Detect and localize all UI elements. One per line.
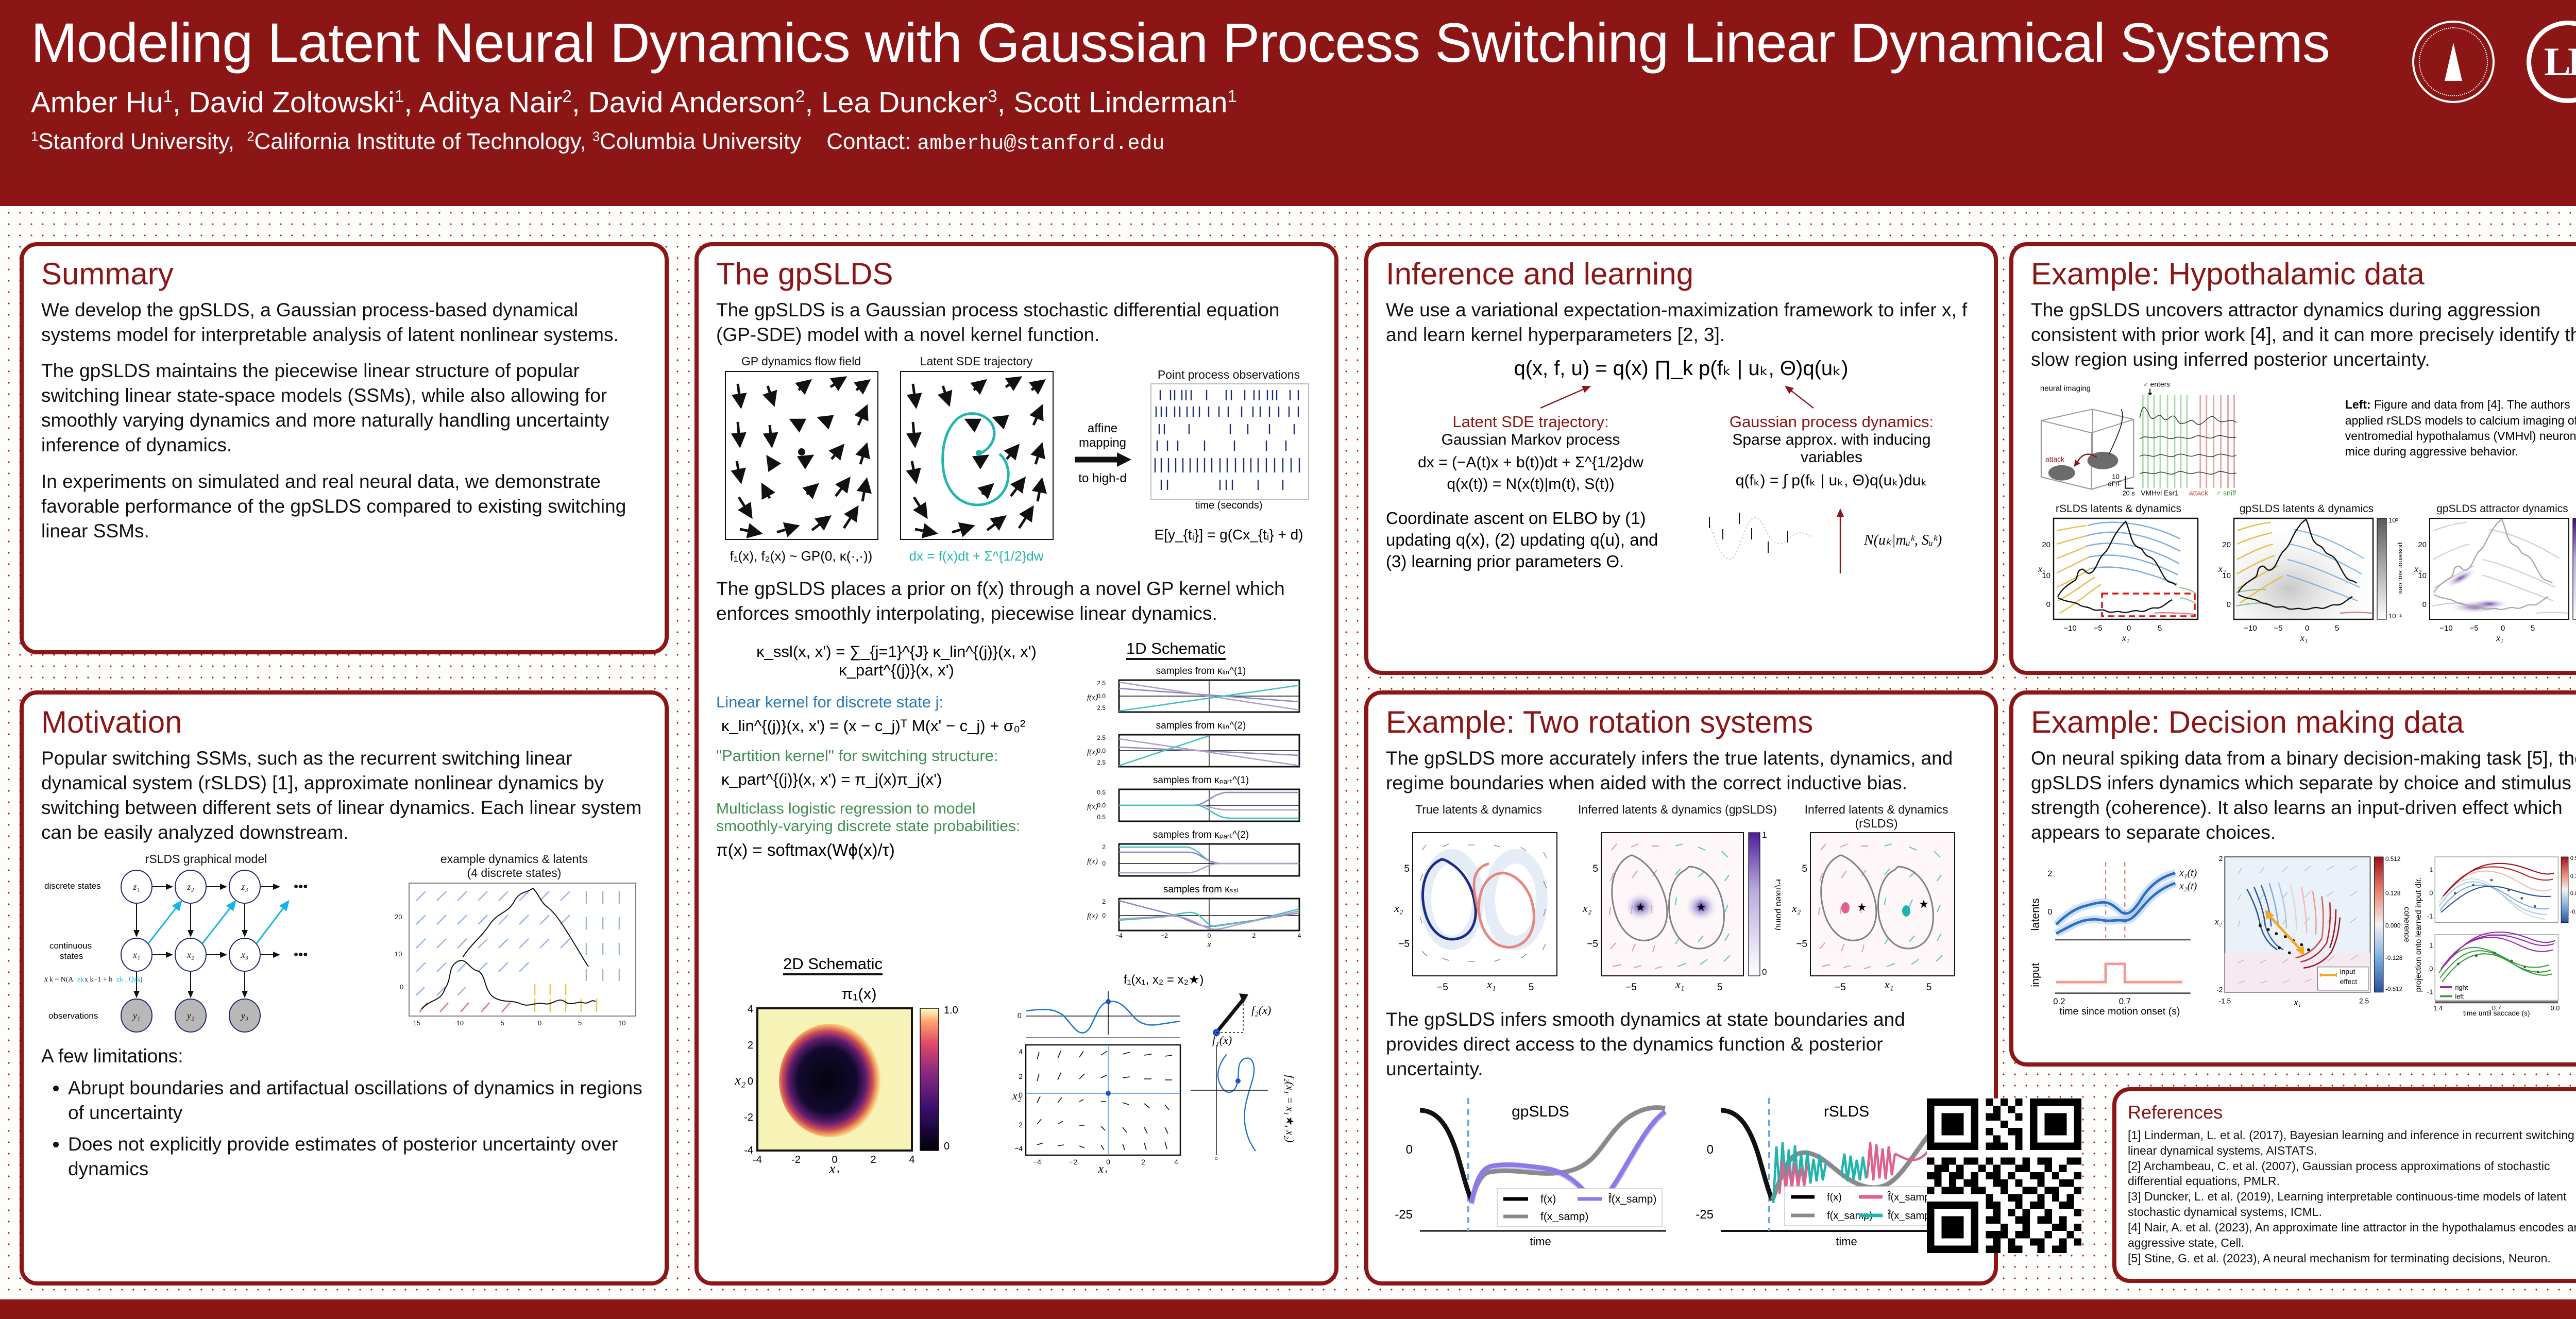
svg-text:5: 5 [1404, 864, 1410, 874]
pi1-title: π₁(x) [716, 985, 1002, 1003]
svg-text:0: 0 [2305, 624, 2309, 633]
author-3: David Anderson [588, 86, 795, 119]
affine-label-l2: mapping [1066, 436, 1139, 450]
scale-dff: dF/F [2108, 480, 2122, 488]
slice-top-label: f₁(x₁, x₂ = x₂★) [1010, 972, 1317, 987]
flow-coherence-figure: input effect 0.5120.1280.000 -0.128-0.51… [2208, 852, 2410, 1017]
gp-branch: Gaussian process dynamics: Sparse approx… [1687, 413, 1976, 493]
limitations-list: Abrupt boundaries and artifactual oscill… [41, 1076, 647, 1180]
svg-text:0.512: 0.512 [2385, 856, 2400, 863]
svg-text:★: ★ [1635, 901, 1646, 914]
rslds-xlabel: time [1836, 1235, 1857, 1247]
svg-text:−5: −5 [1437, 982, 1448, 993]
sch1d-cap-3: samples from κₚₐᵣₜ^(2) [1085, 829, 1317, 841]
svg-text:−5: −5 [1625, 982, 1637, 993]
neural-imaging-label: neural imaging [2040, 384, 2091, 393]
references-list: References [1] Linderman, L. et al. (201… [2128, 1101, 2576, 1266]
svg-text:2: 2 [1102, 898, 1106, 905]
svg-text:○: ○ [1214, 1155, 1218, 1162]
affine-label-l1: affine [1066, 421, 1139, 436]
lg-0-2: f(x_samp) [1540, 1211, 1588, 1223]
page-title: Modeling Latent Neural Dynamics with Gau… [31, 13, 2576, 72]
dynamics-caption-l2: (4 discrete states) [380, 866, 648, 880]
svg-text:−5: −5 [2469, 624, 2478, 633]
linear-kernel-equation: κ_lin^{(j)}(x, x') = (x − c_j)ᵀ M(x' − c… [721, 717, 1077, 735]
qr-code-icon[interactable] [1927, 1098, 2081, 1253]
svg-text:states: states [60, 951, 83, 961]
affiliation-list: 1Stanford University, 2California Instit… [31, 129, 2576, 156]
svg-text:continuous: continuous [49, 941, 92, 951]
dynamics-caption-l1: example dynamics & latents [380, 852, 648, 866]
svg-text:x₂: x₂ [1012, 1089, 1022, 1102]
svg-text:-1: -1 [2427, 988, 2433, 996]
partition-kernel-label: "Partition kernel" for switching structu… [716, 747, 1077, 765]
reference-0: [1] Linderman, L. et al. (2017), Bayesia… [2128, 1128, 2576, 1159]
svg-text:0: 0 [1208, 932, 1211, 939]
svg-text:−10: −10 [2439, 624, 2452, 633]
gpslds-attractor-svg: 10 P(attractor dynamics) 20100 −10−505 x… [2407, 515, 2576, 644]
svg-text:★: ★ [1696, 901, 1706, 914]
svg-text:2.5: 2.5 [1097, 704, 1106, 712]
gpslds-xlabel: time [1530, 1235, 1551, 1247]
hypothalamic-top-row: neural imaging ♂ enters attack [2031, 379, 2576, 498]
kernel-main-equation: κ_ssl(x, x') = ∑_{j=1}^{J} κ_lin^{(j)}(x… [716, 642, 1077, 680]
svg-text:f(x): f(x) [1087, 857, 1098, 866]
lg-0-1: f̂(x_samp) [1608, 1193, 1656, 1205]
gp-prior-equation: f₁(x), f₂(x) ~ GP(0, κ(·,·)) [716, 548, 886, 564]
svg-text:★: ★ [1919, 898, 1929, 910]
gpslds-inferred-figure: Inferred latents & dynamics (gpSLDS) [1574, 803, 1781, 1002]
svg-text:−4: −4 [1033, 1158, 1041, 1166]
svg-text:2.5: 2.5 [1097, 759, 1106, 766]
panel-inference: Inference and learning We use a variatio… [1364, 242, 1998, 675]
schematic-1d-title: 1D Schematic [1126, 639, 1226, 660]
svg-text:0: 0 [1762, 967, 1767, 977]
projection-ylabel: projection onto learned input dir. [2415, 877, 2423, 992]
svg-text:f(x): f(x) [1087, 912, 1098, 920]
multiclass-equation: π(x) = softmax(Wϕ(x)/τ) [716, 840, 1077, 860]
latents-input-figure: latents 20 x₁(t) x₂(t) input 0.20.7 time [2031, 852, 2202, 1017]
two-rotation-figures: True latents & dynamics [1386, 803, 1976, 1002]
svg-text:1.4: 1.4 [2433, 1004, 2443, 1012]
svg-text:0: 0 [2501, 624, 2505, 633]
sch1d-cap-4: samples from κₛₛₗ [1085, 884, 1317, 895]
latent-traj-caption: Latent SDE trajectory [891, 354, 1061, 368]
slice-svg: 0 f₂(x) f₁(x) [1010, 987, 1309, 1173]
svg-text:x₁: x₁ [2294, 997, 2301, 1008]
gpslds-attractor-figure: gpSLDS attractor dynamics [2407, 503, 2576, 647]
svg-text:0: 0 [1707, 1143, 1714, 1157]
trace-label: VMHvl Esr1 [2141, 489, 2179, 497]
affil-sup-2: 3 [592, 130, 600, 144]
panel-summary: Summary We develop the gpSLDS, a Gaussia… [20, 242, 669, 654]
pi1-heatmap-svg: 1.00 -4-2024 420-2-4 x₂ x₁ [716, 1003, 984, 1173]
svg-text:-2: -2 [2216, 986, 2223, 994]
svg-text:discrete states: discrete states [44, 881, 101, 891]
svg-text:1.0: 1.0 [944, 1005, 958, 1016]
svg-text:•••: ••• [294, 878, 308, 894]
point-process-figure: Point process observations [1144, 354, 1314, 543]
sch1d-plot-1: f(x) 2.50.02.5 [1085, 732, 1307, 772]
svg-text:1: 1 [2429, 866, 2433, 874]
svg-text:0.0: 0.0 [1097, 692, 1106, 700]
svg-text:20: 20 [395, 913, 402, 921]
svg-text:0: 0 [1102, 912, 1106, 919]
legend-effect: effect [2340, 978, 2357, 986]
stanford-seal-icon [2412, 21, 2495, 103]
rslds-inferred-svg: ★ ★ −55 5−5 x₁ x₂ [1784, 830, 1969, 1000]
svg-text:zk: zk [77, 976, 84, 984]
hypo-fig-title-1: gpSLDS latents & dynamics [2211, 503, 2402, 515]
svg-text:-0.128: -0.128 [2570, 909, 2576, 915]
svg-text:y₁: y₁ [132, 1010, 140, 1021]
lg-0-0: f(x) [1540, 1193, 1556, 1205]
sch1d-cap-1: samples from κₗᵢₙ^(2) [1085, 720, 1317, 732]
svg-text:0.7: 0.7 [2119, 997, 2131, 1007]
gpslds-plot-title: gpSLDS [1512, 1103, 1569, 1120]
svg-text:0: 0 [1018, 1011, 1022, 1020]
posterior-std-colorbar-label: posterior std. dev. [2397, 543, 2402, 595]
sch1d-plot-4: f(x) 20 −4−2024 x [1085, 895, 1307, 949]
slice-right-label: f₂(x₁ = x₁★, x₂) [1284, 1075, 1296, 1143]
svg-text:0.5: 0.5 [1097, 789, 1106, 796]
pi1-heatmap-figure: 2D Schematic π₁(x) [716, 955, 1002, 1176]
svg-text:−4: −4 [1014, 1144, 1023, 1153]
latent-branch-eq1: dx = (−A(t)x + b(t))dt + Σ^{1/2}dw [1386, 454, 1675, 471]
kernel-equations: κ_ssl(x, x') = ∑_{j=1}^{J} κ_lin^{(j)}(x… [716, 637, 1077, 860]
svg-text:★: ★ [1857, 901, 1867, 914]
svg-text:x₁: x₁ [1098, 1162, 1108, 1173]
hypothalamic-side-caption: Left: Figure and data from [4]. The auth… [2345, 379, 2576, 459]
author-sup-3: 2 [795, 87, 805, 106]
svg-text:−2: −2 [1069, 1158, 1077, 1166]
flow-field-figure: GP dynamics flow field [716, 354, 886, 564]
linear-kernel-label: Linear kernel for discrete state j: [716, 693, 1077, 712]
svg-text:−5: −5 [1835, 982, 1846, 993]
panel-decision: Example: Decision making data On neural … [2009, 690, 2576, 1067]
svg-text:2: 2 [748, 1040, 753, 1051]
vector-decomposition: f₂(x) f₁(x) [1212, 993, 1271, 1046]
svg-text:0: 0 [2047, 908, 2052, 917]
svg-text:2: 2 [2219, 855, 2223, 863]
rslds-inferred-figure: Inferred latents & dynamics (rSLDS) [1784, 803, 1969, 1002]
rslds-latents-svg: 20100 −10−505 x₂ x₁ [2031, 515, 2206, 644]
gp-branch-sub-l2: variables [1687, 449, 1976, 466]
svg-text:-4: -4 [744, 1145, 753, 1156]
linderman-lab-logo-icon: LL [2527, 21, 2576, 103]
inference-title: Inference and learning [1386, 259, 1976, 290]
svg-text:-4: -4 [753, 1154, 762, 1165]
svg-text:0: 0 [2429, 889, 2433, 897]
author-2: Aditya Nair [419, 86, 563, 119]
svg-text:z₂: z₂ [187, 882, 194, 892]
author-0: Amber Hu [31, 86, 163, 119]
summary-paragraph-0: We develop the gpSLDS, a Gaussian proces… [41, 298, 647, 347]
closing-text: Coordinate ascent on ELBO by (1) updatin… [1386, 508, 1695, 573]
svg-text:0.128: 0.128 [2385, 890, 2401, 897]
svg-text:0: 0 [400, 983, 403, 991]
svg-text:-1: -1 [2427, 912, 2433, 920]
svg-text:x₂: x₂ [2038, 564, 2045, 574]
author-sup-2: 2 [562, 87, 571, 106]
gp-branch-label: Gaussian process dynamics: [1687, 413, 1976, 431]
logo-group: LL [2412, 21, 2576, 103]
projection-figure: projection onto learned input dir. 10-1 [2415, 852, 2576, 1017]
svg-text:0: 0 [2046, 600, 2050, 609]
svg-text:f(x): f(x) [1087, 803, 1098, 811]
gpslds-timeseries-figure: gpSLDS 0 -25 time f(x) f̂( [1386, 1093, 1674, 1250]
svg-text:-0.512: -0.512 [2385, 986, 2402, 993]
svg-text:20: 20 [2222, 540, 2231, 549]
svg-text:x₂: x₂ [2414, 564, 2421, 574]
legend-sniff: ♂ sniff [2216, 489, 2236, 497]
svg-text:0: 0 [538, 1019, 541, 1027]
x2-trace-label: x₂(t) [2179, 881, 2197, 892]
inducing-points-figure [1702, 501, 1857, 579]
svg-text:y₃: y₃ [240, 1010, 248, 1021]
author-sup-5: 1 [1227, 87, 1236, 106]
svg-text:−2: −2 [1161, 932, 1168, 939]
hypothalamic-figures: rSLDS latents & dynamics [2031, 503, 2576, 647]
latent-branch-label: Latent SDE trajectory: [1386, 413, 1675, 431]
latent-trajectory-figure: Latent SDE trajectory [891, 354, 1061, 564]
schematic-1d: 1D Schematic samples from κₗᵢₙ^(1) f(x) … [1085, 637, 1317, 952]
svg-text:x₂: x₂ [2218, 564, 2226, 574]
scale-20s: 20 s [2122, 489, 2134, 497]
latent-branch: Latent SDE trajectory: Gaussian Markov p… [1386, 413, 1675, 493]
svg-text:−5: −5 [1796, 939, 1807, 950]
sch1d-plot-0: f(x) 2.50.02.5 [1085, 677, 1307, 717]
svg-text:−4: −4 [1115, 932, 1123, 939]
latent-traj-svg [891, 368, 1061, 544]
legend-right: right [2455, 984, 2468, 991]
closing-l3: (3) learning prior parameters Θ. [1386, 551, 1695, 572]
schematic-2d-title: 2D Schematic [783, 955, 883, 975]
flow-field-caption: GP dynamics flow field [716, 354, 886, 368]
svg-text:10: 10 [395, 950, 402, 958]
panel-two-rotation: Example: Two rotation systems The gpSLDS… [1364, 690, 1998, 1286]
sch1d-plot-3: f(x) 20 [1085, 841, 1307, 881]
poster-header: Modeling Latent Neural Dynamics with Gau… [0, 0, 2576, 206]
inference-main-equation: q(x, f, u) = q(x) ∏_k p(fₖ | uₖ, Θ)q(uₖ) [1386, 357, 1976, 380]
svg-text:x₂: x₂ [2214, 917, 2222, 927]
inference-branches: Latent SDE trajectory: Gaussian Markov p… [1386, 413, 1976, 493]
raster-svg: time (seconds) [1144, 382, 1314, 511]
author-sup-0: 1 [163, 87, 173, 106]
gpslds-latents-svg: 10²10⁻² posterior std. dev. 20100 −10−50… [2211, 515, 2402, 644]
svg-text:observations: observations [48, 1011, 98, 1021]
fig-title-1: Inferred latents & dynamics (gpSLDS) [1574, 803, 1781, 830]
svg-text:2: 2 [1141, 1158, 1145, 1166]
svg-text:2.5: 2.5 [2359, 997, 2369, 1005]
svg-text:f(x): f(x) [1087, 748, 1098, 756]
rslds-plot-title: rSLDS [1824, 1103, 1869, 1120]
hypo-fig-title-2: gpSLDS attractor dynamics [2407, 503, 2576, 515]
gpslds-title: The gpSLDS [716, 259, 1317, 290]
svg-text:-2: -2 [791, 1154, 801, 1165]
kernel-section: κ_ssl(x, x') = ∑_{j=1}^{J} κ_lin^{(j)}(x… [716, 637, 1317, 952]
svg-text:0: 0 [2227, 600, 2231, 609]
svg-text:time (seconds): time (seconds) [1195, 500, 1262, 511]
point-process-caption: Point process observations [1144, 368, 1314, 382]
mouse-imaging-figure: neural imaging ♂ enters attack [2031, 379, 2339, 498]
summary-paragraph-1: The gpSLDS maintains the piecewise linea… [41, 359, 647, 458]
svg-text:f₁(x): f₁(x) [1212, 1034, 1232, 1046]
svg-text:0.5: 0.5 [1097, 814, 1106, 821]
motivation-title: Motivation [41, 707, 647, 738]
panel-motivation: Motivation Popular switching SSMs, such … [20, 690, 669, 1286]
affil-sup-1: 2 [247, 130, 254, 144]
svg-text:0.128: 0.128 [2570, 874, 2576, 880]
reference-2: [3] Duncker, L. et al. (2019), Learning … [2128, 1189, 2576, 1220]
reference-4: [5] Stine, G. et al. (2023), A neural me… [2128, 1251, 2576, 1266]
svg-text:2: 2 [2047, 870, 2052, 878]
svg-text:4: 4 [1174, 1158, 1178, 1166]
tree-icon [2445, 43, 2462, 81]
svg-text:5: 5 [1592, 864, 1598, 874]
hypo-fig-title-0: rSLDS latents & dynamics [2031, 503, 2206, 515]
author-4: Lea Duncker [821, 86, 988, 119]
inference-paragraph: We use a variational expectation-maximiz… [1386, 298, 1976, 347]
references-title: References [2128, 1101, 2576, 1125]
latent-branch-sub: Gaussian Markov process [1386, 431, 1675, 449]
example-dynamics-figure: example dynamics & latents (4 discrete s… [380, 852, 648, 1037]
affil-2: Columbia University [600, 129, 801, 154]
svg-text:0.000: 0.000 [2385, 923, 2401, 929]
multiclass-label-l1: Multiclass logistic regression to model [716, 800, 1077, 818]
affine-label-l3: to high-d [1066, 471, 1139, 486]
svg-text:20: 20 [2418, 540, 2427, 549]
reference-1: [2] Archambeau, C. et al. (2007), Gaussi… [2128, 1159, 2576, 1190]
sch1d-cap-2: samples from κₚₐᵣₜ^(1) [1085, 774, 1317, 786]
svg-text:10⁻²: 10⁻² [2388, 612, 2402, 620]
svg-text:-25: -25 [1395, 1208, 1413, 1222]
svg-text:x₂: x₂ [187, 950, 194, 960]
sde-equation: dx = f(x)dt + Σ^{1/2}dw [891, 548, 1061, 564]
author-1: David Zoltowski [189, 86, 395, 119]
author-sup-4: 3 [988, 87, 997, 106]
svg-text:−5: −5 [2274, 624, 2282, 633]
svg-text:4: 4 [748, 1004, 753, 1015]
contact-label: Contact: [826, 129, 911, 154]
svg-text:2: 2 [1019, 1072, 1023, 1080]
svg-text:1: 1 [1762, 830, 1767, 840]
svg-text:z₁: z₁ [132, 882, 140, 892]
male-enters-label: ♂ enters [2143, 380, 2170, 388]
saccade-xlabel: time until saccade (s) [2463, 1009, 2530, 1017]
svg-text:2: 2 [1102, 843, 1106, 851]
svg-text:−2: −2 [1014, 1121, 1023, 1129]
gpslds-legend: f(x) f̂(x_samp) f(x_samp) [1497, 1189, 1662, 1227]
inference-closing: Coordinate ascent on ELBO by (1) updatin… [1386, 501, 1976, 579]
svg-text:−5: −5 [1587, 939, 1598, 950]
multiclass-label-l2: smoothly-varying discrete state probabil… [716, 818, 1077, 835]
svg-text:x₁: x₁ [132, 950, 140, 960]
contact-email[interactable]: amberhu@stanford.edu [917, 132, 1164, 156]
svg-text:f(x): f(x) [1087, 694, 1098, 702]
svg-text:y₂: y₂ [186, 1010, 194, 1021]
rslds-graphical-model-figure: rSLDS graphical model discrete states co… [41, 852, 371, 1039]
legend-left: left [2455, 993, 2464, 1001]
svg-text:-1.5: -1.5 [2219, 997, 2231, 1005]
side-caption-text: Figure and data from [4]. The authors ap… [2345, 398, 2576, 458]
decision-paragraph: On neural spiking data from a binary dec… [2031, 746, 2576, 845]
svg-text:0.0: 0.0 [1097, 747, 1106, 754]
svg-text:x₂: x₂ [1791, 902, 1801, 915]
svg-text:-0.128: -0.128 [2385, 955, 2403, 961]
svg-text:x₁: x₁ [2300, 633, 2308, 643]
fixed-point-colorbar-label: P(fixed point) [1774, 879, 1781, 931]
gpslds-model-schematic: GP dynamics flow field [716, 354, 1317, 564]
svg-text:k ~ N(A: k ~ N(A [49, 976, 74, 984]
svg-text:5: 5 [2531, 624, 2535, 633]
svg-text:x₁: x₁ [2496, 633, 2503, 643]
svg-text:x₂: x₂ [1582, 902, 1592, 915]
scale-10: 10 [2112, 473, 2119, 481]
limitation-0: Abrupt boundaries and artifactual oscill… [68, 1076, 647, 1125]
annotation-arrows [1386, 383, 1984, 410]
svg-text:0.512: 0.512 [2570, 855, 2576, 861]
affil-0: Stanford University [38, 129, 228, 154]
svg-text:0: 0 [2422, 600, 2427, 609]
svg-text:f₂(x): f₂(x) [1251, 1004, 1271, 1017]
author-sup-1: 1 [395, 87, 404, 106]
flow-field-svg [716, 368, 886, 544]
svg-text:−5: −5 [497, 1019, 504, 1027]
svg-text:2.5: 2.5 [1097, 680, 1106, 687]
svg-text:5: 5 [2335, 624, 2339, 633]
summary-title: Summary [41, 259, 647, 290]
svg-text:4: 4 [1019, 1047, 1023, 1056]
svg-text:0: 0 [1102, 860, 1106, 867]
gpslds-timeseries-svg: gpSLDS 0 -25 time f(x) f̂( [1386, 1093, 1674, 1247]
svg-text:2: 2 [1252, 932, 1256, 939]
svg-text:x₁: x₁ [1675, 978, 1684, 991]
svg-text:): ) [140, 976, 143, 984]
svg-text:−5: −5 [1398, 939, 1410, 950]
closing-l1: Coordinate ascent on ELBO by (1) [1386, 508, 1695, 529]
svg-text:x₁: x₁ [1486, 978, 1496, 991]
svg-text:x₃: x₃ [241, 950, 248, 960]
observation-equation: E[y_{tᵢ}] = g(Cx_{tᵢ} + d) [1144, 527, 1314, 543]
graphical-model-caption: rSLDS graphical model [41, 852, 371, 866]
gpslds-paragraph-1: The gpSLDS is a Gaussian process stochas… [716, 298, 1317, 347]
svg-text:0.000: 0.000 [2570, 891, 2576, 897]
closing-l2: updating q(x), (2) updating q(u), and [1386, 529, 1695, 551]
affil-1: California Institute of Technology [255, 129, 580, 154]
svg-text:0.0: 0.0 [1097, 802, 1106, 809]
decision-title: Example: Decision making data [2031, 707, 2576, 738]
graphical-model-svg: discrete states continuous states observ… [41, 866, 371, 1036]
input-ylabel: input [2031, 963, 2042, 987]
svg-text:x₂: x₂ [1394, 902, 1403, 915]
legend-input: input [2340, 968, 2355, 976]
decision-figures: latents 20 x₁(t) x₂(t) input 0.20.7 time [2031, 852, 2576, 1017]
gp-branch-eq: q(fₖ) = ∫ p(fₖ | uₖ, Θ)q(uₖ)duₖ [1687, 471, 1976, 489]
svg-text:1: 1 [2429, 942, 2433, 950]
true-latents-svg: −55 5−5 x₁ x₂ [1386, 830, 1571, 1000]
author-5: Scott Linderman [1013, 86, 1227, 119]
svg-text:0.2: 0.2 [2053, 997, 2065, 1007]
gp-branch-sub-l1: Sparse approx. with inducing [1687, 431, 1976, 449]
svg-text:5: 5 [578, 1019, 582, 1027]
attack-arrow-label: attack [2045, 455, 2064, 463]
author-list: Amber Hu1, David Zoltowski1, Aditya Nair… [31, 86, 2576, 120]
svg-text:5: 5 [2158, 624, 2162, 633]
svg-text:−10: −10 [2063, 624, 2076, 633]
dynamics-plot-svg: 20100 −15−10−5 0510 [380, 880, 648, 1035]
svg-text:2: 2 [870, 1154, 876, 1165]
